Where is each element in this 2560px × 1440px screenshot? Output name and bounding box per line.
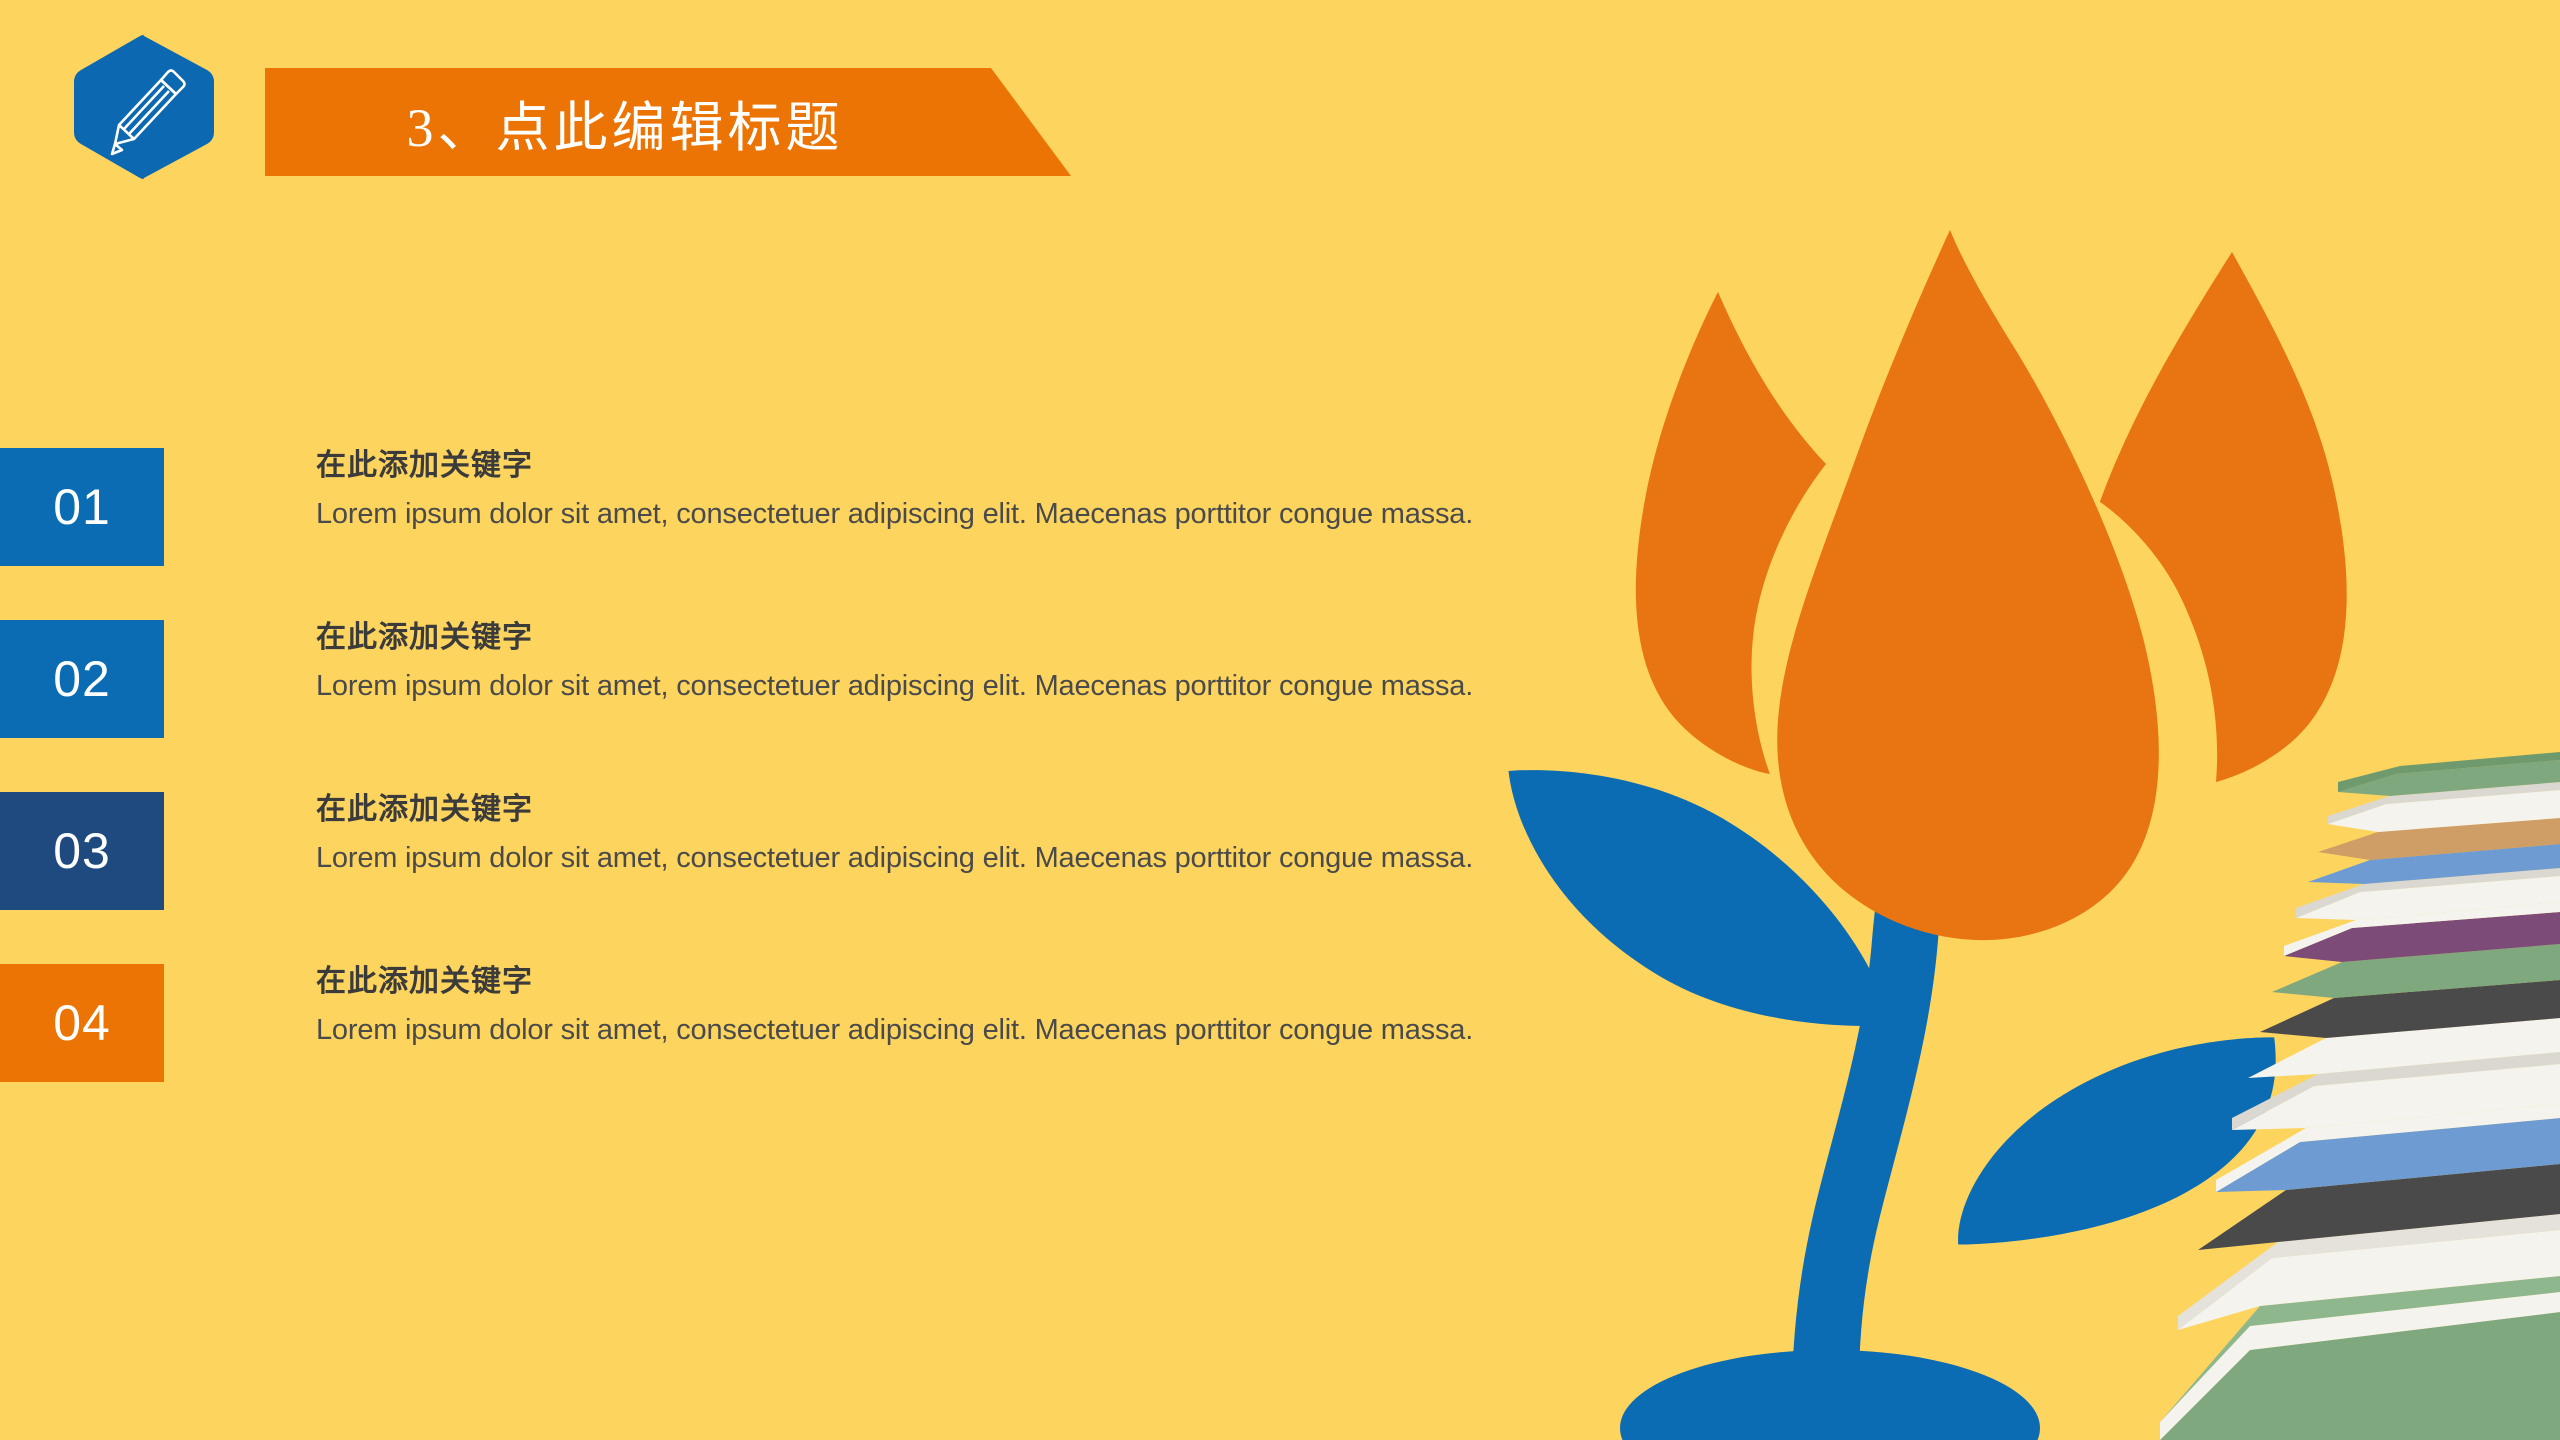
book-pages — [2284, 902, 2560, 956]
slide-header: 3、点此编辑标题 — [0, 0, 2560, 210]
item-description: Lorem ipsum dolor sit amet, consectetuer… — [316, 842, 1800, 875]
item-number: 01 — [53, 478, 111, 536]
book-layer — [2284, 912, 2560, 962]
book-layer — [2338, 760, 2560, 796]
page-title: 3、点此编辑标题 — [265, 68, 985, 176]
leaf-right — [1936, 1036, 2296, 1246]
list-item[interactable]: 04 在此添加关键字 Lorem ipsum dolor sit amet, c… — [0, 946, 1800, 1118]
book-layer — [2216, 1118, 2560, 1192]
flower-stem — [1792, 720, 1972, 1440]
item-heading: 在此添加关键字 — [316, 784, 1800, 828]
item-number: 04 — [53, 994, 111, 1052]
item-heading: 在此添加关键字 — [316, 440, 1800, 484]
book-layer — [2338, 752, 2560, 792]
item-heading: 在此添加关键字 — [316, 612, 1800, 656]
item-description: Lorem ipsum dolor sit amet, consectetuer… — [316, 670, 1800, 703]
list-item[interactable]: 02 在此添加关键字 Lorem ipsum dolor sit amet, c… — [0, 602, 1800, 774]
list-item[interactable]: 03 在此添加关键字 Lorem ipsum dolor sit amet, c… — [0, 774, 1800, 946]
key-points-list: 01 在此添加关键字 Lorem ipsum dolor sit amet, c… — [0, 430, 1800, 1118]
item-number: 02 — [53, 650, 111, 708]
book-stack-icon — [2160, 752, 2560, 1440]
item-body: 在此添加关键字 Lorem ipsum dolor sit amet, cons… — [316, 602, 1800, 703]
book-layer — [2328, 782, 2560, 824]
book-layer — [2232, 1052, 2560, 1130]
item-description: Lorem ipsum dolor sit amet, consectetuer… — [316, 498, 1800, 531]
book-pages — [2160, 1292, 2560, 1440]
book-layer — [2260, 980, 2560, 1038]
item-body: 在此添加关键字 Lorem ipsum dolor sit amet, cons… — [316, 774, 1800, 875]
item-body: 在此添加关键字 Lorem ipsum dolor sit amet, cons… — [316, 946, 1800, 1047]
flower-base — [1620, 1350, 2040, 1440]
book-layer — [2308, 844, 2560, 884]
item-description: Lorem ipsum dolor sit amet, consectetuer… — [316, 1014, 1800, 1047]
item-heading: 在此添加关键字 — [316, 956, 1800, 1000]
petal-center — [1777, 230, 2159, 940]
book-layer — [2178, 1214, 2560, 1330]
book-layer — [2198, 1164, 2560, 1250]
book-pages — [2248, 1018, 2560, 1078]
book-layer — [2160, 1312, 2560, 1440]
list-item[interactable]: 01 在此添加关键字 Lorem ipsum dolor sit amet, c… — [0, 430, 1800, 602]
item-number: 03 — [53, 822, 111, 880]
book-layer — [2272, 944, 2560, 998]
book-layer — [2296, 868, 2560, 918]
petal-right — [2100, 252, 2347, 782]
book-pages — [2232, 1064, 2560, 1130]
book-pages — [2216, 1104, 2560, 1192]
item-body: 在此添加关键字 Lorem ipsum dolor sit amet, cons… — [316, 430, 1800, 531]
book-pages — [2296, 876, 2560, 920]
item-number-box: 01 — [0, 448, 164, 566]
book-pages — [2328, 790, 2560, 832]
title-banner: 3、点此编辑标题 — [265, 68, 1075, 176]
book-layer — [2318, 818, 2560, 860]
book-layer — [2160, 1276, 2560, 1422]
item-number-box: 02 — [0, 620, 164, 738]
item-number-box: 03 — [0, 792, 164, 910]
pencil-hexagon-badge — [68, 32, 220, 182]
book-pages — [2178, 1230, 2560, 1330]
item-number-box: 04 — [0, 964, 164, 1082]
